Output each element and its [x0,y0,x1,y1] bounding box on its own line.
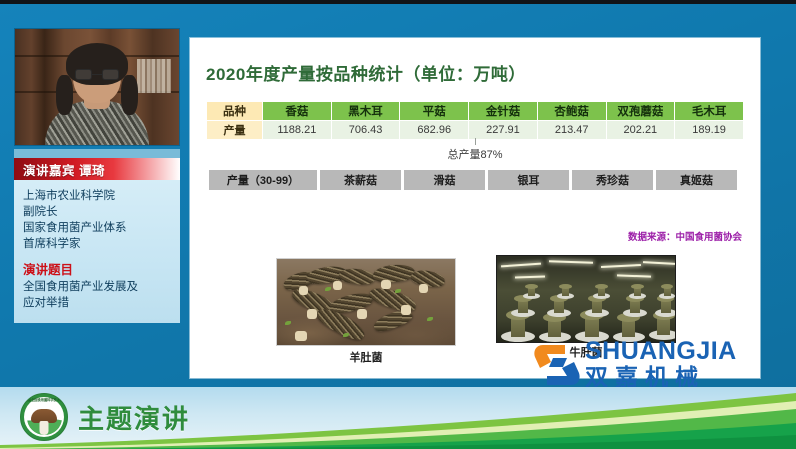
presentation-slide: 2020年度产量按品种统计（单位：万吨） 品种 香菇 黑木耳 平菇 金针菇 杏鲍… [190,38,760,378]
speaker-hair-left [56,75,73,115]
value-cat-3: 227.91 [469,121,538,140]
value-cat-6: 189.19 [675,121,744,140]
header-cat-4: 杏鲍菇 [537,102,606,121]
table-header-row: 品种 香菇 黑木耳 平菇 金针菇 杏鲍菇 双孢蘑菇 毛木耳 [207,102,744,121]
secondary-production-table: 产量（30-99） 茶薪菇 滑菇 银耳 秀珍菇 真姬菇 [206,170,740,190]
photo-morel-mushrooms [276,258,456,346]
value-cat-2: 682.96 [400,121,469,140]
photo-left-caption: 羊肚菌 [276,349,456,365]
secondary-header-label: 产量（30-99） [209,170,317,190]
speaker-affiliation: 上海市农业科学院 [23,188,171,204]
speaker-name: 演讲嘉宾 谭琦 [23,160,105,179]
value-cat-1: 706.43 [331,121,400,140]
header-cat-6: 毛木耳 [675,102,744,121]
secondary-cat-4: 真姬菇 [656,170,737,190]
photo-right-caption: 牛肝菌 [496,344,676,360]
speaker-affiliation: 副院长 [23,204,171,220]
speaker-video-feed[interactable] [14,28,180,146]
topic-line: 全国食用菌产业发展及 [23,279,171,295]
header-cat-2: 平菇 [400,102,469,121]
speaker-figure [45,63,149,145]
event-brand: 第六届全国食用菌科学技术大会 主题演讲 [20,393,190,441]
speaker-details: 上海市农业科学院 副院长 国家食用菌产业体系 首席科学家 演讲题目 全国食用菌产… [14,180,180,323]
header-cat-0: 香菇 [263,102,332,121]
speaker-panel: 演讲嘉宾 谭琦 上海市农业科学院 副院长 国家食用菌产业体系 首席科学家 演讲题… [14,28,180,323]
table-header-row: 产量（30-99） 茶薪菇 滑菇 银耳 秀珍菇 真姬菇 [209,170,737,190]
table-row: 产量 1188.21 706.43 682.96 227.91 213.47 2… [207,121,744,140]
header-cat-3: 金针菇 [469,102,538,121]
value-cat-4: 213.47 [537,121,606,140]
total-share-annotation: 总产量87% [206,145,744,163]
facility-scene [497,256,675,342]
header-cat-1: 黑木耳 [331,102,400,121]
speaker-affiliation: 国家食用菌产业体系 [23,220,171,236]
secondary-cat-1: 滑菇 [404,170,485,190]
conference-logo-icon: 第六届全国食用菌科学技术大会 [20,393,68,441]
speaker-name-banner: 演讲嘉宾 谭琦 [14,158,180,180]
morel-scene [277,259,455,345]
glasses-icon [75,69,119,81]
annotation-tick [475,138,476,145]
secondary-cat-2: 银耳 [488,170,569,190]
total-share-text: 总产量87% [447,149,502,161]
value-cat-0: 1188.21 [263,121,332,140]
speaker-hair-right [121,75,138,115]
topic-line: 应对举措 [23,295,171,311]
row-label-output: 产量 [207,121,263,140]
production-table: 品种 香菇 黑木耳 平菇 金针菇 杏鲍菇 双孢蘑菇 毛木耳 产量 1188.21… [206,101,744,140]
section-title: 主题演讲 [78,399,190,436]
logo-ring-text-wrap: 第六届全国食用菌科学技术大会 [21,394,67,440]
secondary-cat-0: 茶薪菇 [320,170,401,190]
speaker-affiliation: 首席科学家 [23,236,171,252]
panel-spacer [14,149,180,158]
header-category-label: 品种 [207,102,263,121]
secondary-cat-3: 秀珍菇 [572,170,653,190]
slide-title: 2020年度产量按品种统计（单位：万吨） [206,60,760,85]
header-cat-5: 双孢蘑菇 [606,102,675,121]
value-cat-5: 202.21 [606,121,675,140]
logo-ring-text: 第六届全国食用菌科学技术大会 [22,397,67,402]
topic-label: 演讲题目 [23,262,171,279]
photo-cultivation-facility [496,255,676,343]
screen-root: 演讲嘉宾 谭琦 上海市农业科学院 副院长 国家食用菌产业体系 首席科学家 演讲题… [0,0,796,449]
bottom-banner: 第六届全国食用菌科学技术大会 主题演讲 [0,387,796,449]
data-source-note: 数据来源：中国食用菌协会 [628,229,742,243]
